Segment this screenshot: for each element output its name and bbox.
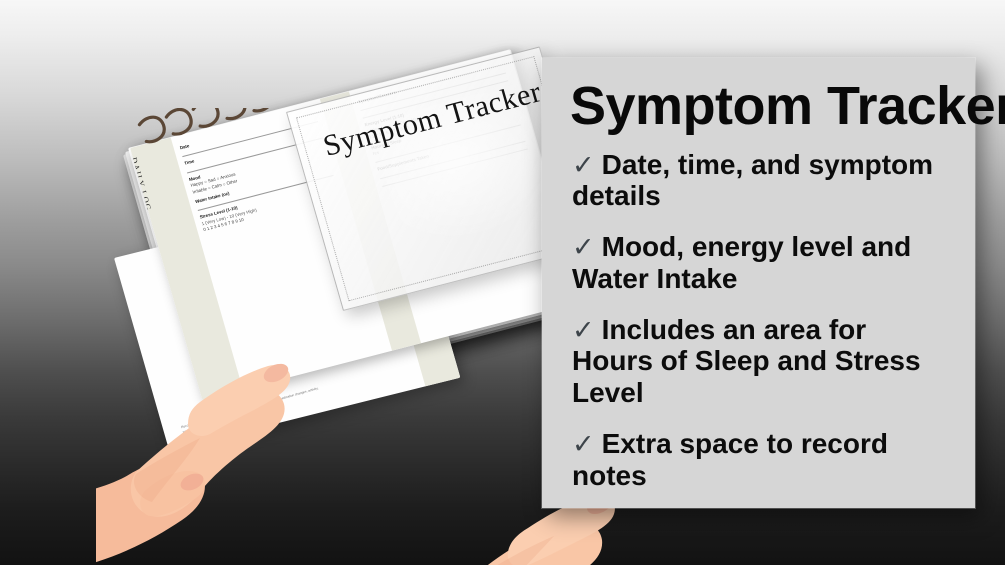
list-item-label: Mood, energy level and Water Intake	[572, 231, 911, 293]
list-item: ✓Date, time, and symptom details	[570, 149, 947, 212]
feature-list: ✓Date, time, and symptom details ✓Mood, …	[570, 149, 947, 491]
check-icon: ✓	[572, 150, 595, 180]
slide-canvas: ADDITIONAL NOTES Use this space to add a…	[0, 0, 1005, 565]
notepad-group: ADDITIONAL NOTES Use this space to add a…	[118, 108, 548, 438]
list-item-label: Includes an area for Hours of Sleep and …	[572, 314, 921, 408]
list-item-label: Extra space to record notes	[572, 428, 888, 490]
list-item: ✓Extra space to record notes	[570, 428, 947, 491]
list-item: ✓Includes an area for Hours of Sleep and…	[570, 314, 947, 408]
info-panel: Symptom Tracker ✓Date, time, and symptom…	[542, 58, 975, 508]
list-item-label: Date, time, and symptom details	[572, 149, 933, 211]
page-title: Symptom Tracker	[570, 78, 947, 135]
list-item: ✓Mood, energy level and Water Intake	[570, 231, 947, 294]
check-icon: ✓	[572, 315, 595, 345]
check-icon: ✓	[572, 232, 595, 262]
check-icon: ✓	[572, 429, 595, 459]
